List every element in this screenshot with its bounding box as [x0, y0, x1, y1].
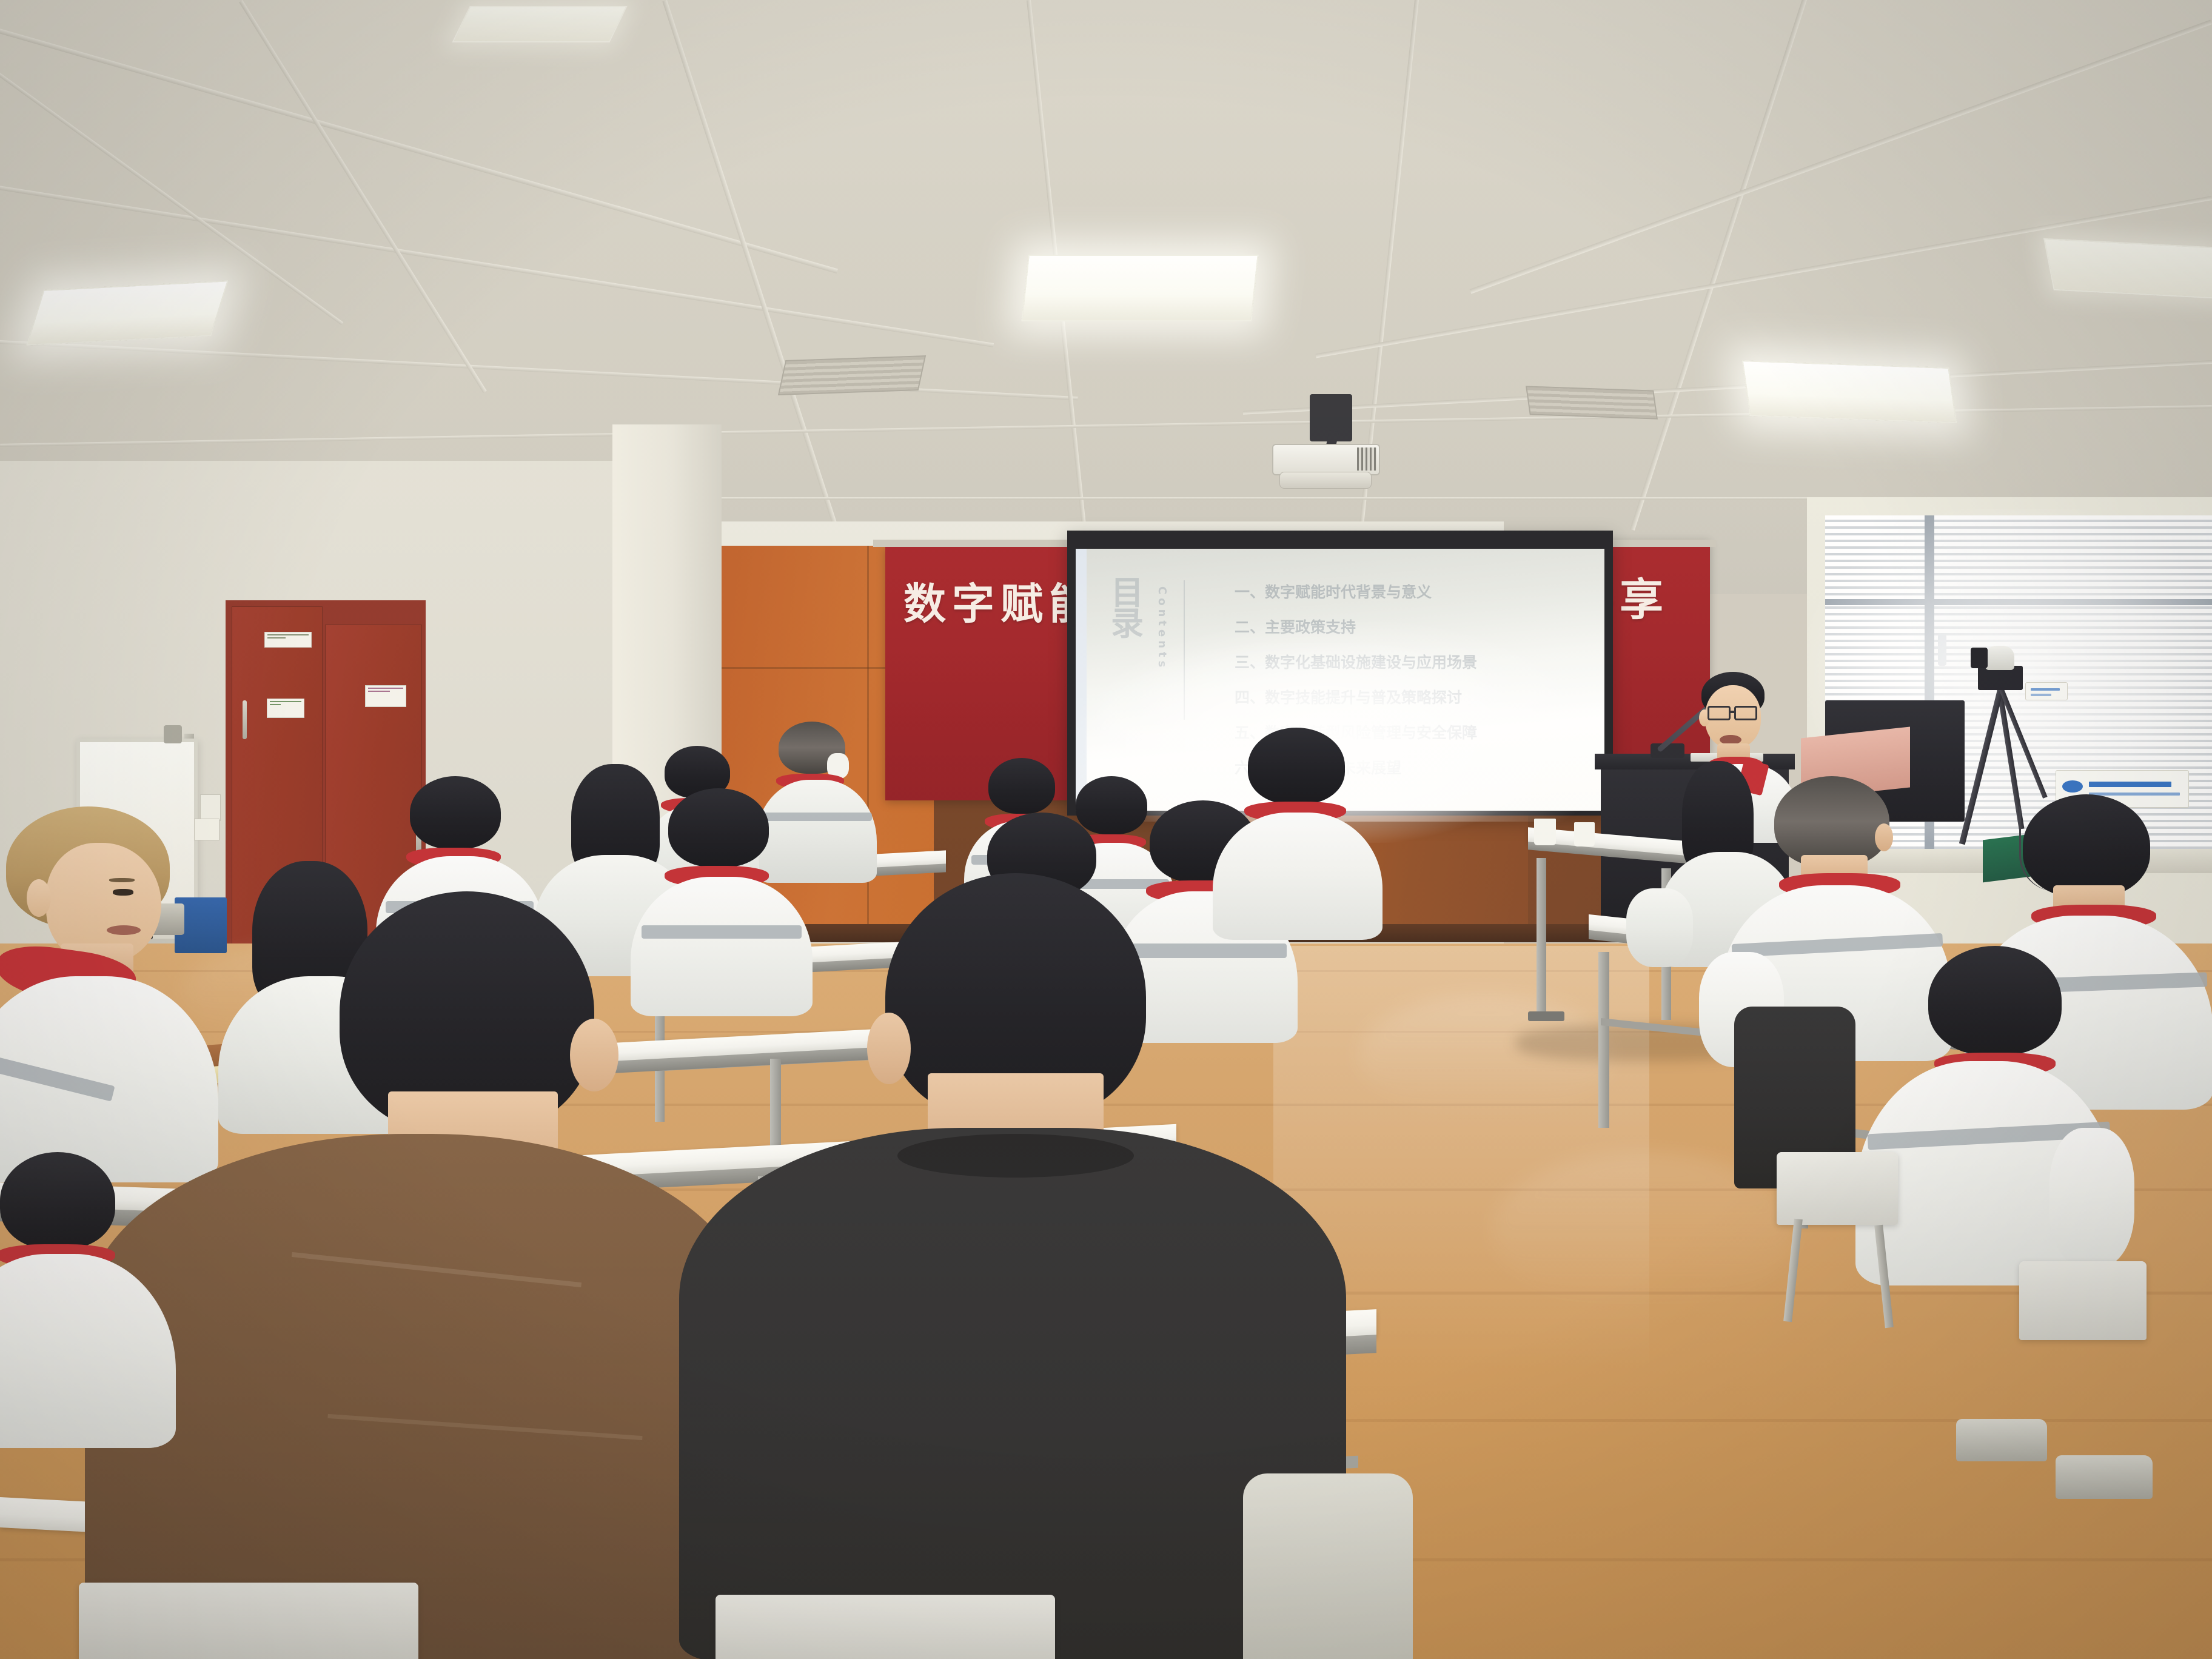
ceiling-projector: [1231, 388, 1425, 503]
ceiling-air-vent: [778, 355, 926, 395]
projector-vent-grille: [1357, 447, 1376, 471]
attendee-right-4: [1855, 946, 2116, 1285]
attendee-left-edge: [0, 1152, 176, 1443]
whiteboard-clamp: [164, 725, 182, 743]
attendee-hair: [988, 758, 1055, 814]
attendee-ear: [570, 1019, 618, 1091]
desk-leg: [1537, 858, 1546, 1016]
sign-text-line: [2031, 688, 2060, 691]
attendee-arm: [1626, 888, 1693, 967]
attendee-eyebrow: [109, 878, 135, 882]
video-camera-body: [1985, 646, 2014, 670]
chair[interactable]: [1777, 1152, 1898, 1225]
ceiling-light-panel: [1742, 360, 1957, 423]
ceiling-light-panel: [2043, 238, 2212, 300]
chair[interactable]: [716, 1595, 1055, 1659]
window-latch: [1938, 634, 1946, 666]
door-handle[interactable]: [243, 700, 247, 739]
attendee-hair: [1248, 728, 1345, 804]
sign-text-line: [2031, 694, 2051, 696]
attendee-torso: [0, 1254, 176, 1448]
projector-lens-housing: [1279, 472, 1372, 489]
door-sign: [365, 685, 406, 707]
door-sign: [264, 632, 312, 648]
sign-text-line: [2089, 782, 2171, 787]
door-sign: [267, 699, 304, 718]
attendee-ear: [867, 1013, 911, 1084]
sign-logo-icon: [2062, 780, 2083, 793]
attendee-hair: [1928, 946, 2062, 1055]
attendee-hair: [1774, 776, 1889, 867]
chair[interactable]: [2019, 1261, 2147, 1340]
attendee-hair: [668, 788, 769, 867]
attendee-shoe: [2056, 1455, 2153, 1499]
ceiling-light-panel: [452, 6, 627, 42]
chair[interactable]: [79, 1583, 418, 1659]
attendee-hair: [0, 1152, 115, 1249]
attendee-foreground-brown-shirt: [109, 891, 752, 1659]
attendee-torso-brown: [85, 1134, 752, 1659]
conference-room-photo: 数字赋能 全民共享 目录 Contents 一、数字赋能时代背景与意义 二、主要…: [0, 0, 2212, 1659]
presenter-glasses: [1708, 706, 1731, 720]
desk-leg: [1598, 952, 1609, 1128]
slide-toc-item: 一、数字赋能时代背景与意义: [1235, 580, 1432, 602]
desk-foot: [1528, 1011, 1564, 1021]
attendee-shoe: [1956, 1419, 2047, 1461]
ceiling-air-vent: [1526, 386, 1658, 419]
presenter-glasses-bridge: [1731, 711, 1735, 713]
paper-cup: [1574, 822, 1595, 846]
paper-cup: [1534, 819, 1556, 845]
attendee-hair: [2023, 794, 2150, 897]
ceiling-light-panel: [1021, 255, 1259, 321]
attendee-collar-neckline: [897, 1134, 1134, 1178]
ceiling-light-panel: [26, 280, 229, 346]
camera-lens: [1971, 648, 1988, 668]
attendee-trousers: [1243, 1473, 1413, 1659]
attendee-arm: [2049, 1128, 2134, 1267]
window-mullion: [1825, 599, 2212, 605]
attendee-ear: [27, 879, 51, 917]
attendee-ear: [1875, 823, 1893, 851]
wall-notice-sign: [2025, 682, 2068, 700]
presenter-glasses: [1734, 706, 1757, 720]
attendee-hair: [410, 776, 501, 849]
